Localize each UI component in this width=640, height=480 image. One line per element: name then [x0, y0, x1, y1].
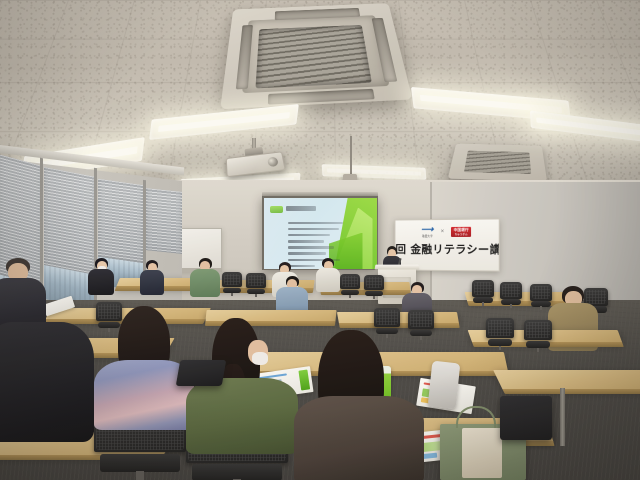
blind-slats [98, 179, 144, 263]
chair-back [486, 318, 514, 338]
light-tube [327, 168, 421, 175]
chair-back [408, 310, 434, 329]
chair-mesh [366, 277, 382, 288]
attendee-body [190, 269, 220, 297]
slide-bullet [288, 252, 326, 255]
chair-seat [192, 464, 282, 480]
chair-post [499, 346, 501, 350]
slide-bullet [288, 240, 324, 243]
logo-separator: × [441, 229, 444, 235]
chair-mesh [488, 320, 512, 336]
chair-mesh [376, 310, 398, 325]
chair-post [231, 293, 233, 296]
chair-post [540, 306, 542, 310]
chair[interactable] [340, 274, 360, 298]
attendee-body [88, 269, 114, 295]
chair[interactable] [524, 320, 552, 352]
chair-back [524, 320, 552, 340]
slide-title-text [286, 206, 316, 211]
ac-grille [255, 25, 371, 89]
lecture-hall-photo: ⟶ 敬愛大学 × 中国銀行 ちゅうぎん 回 金融リテラシー講座 [0, 0, 640, 480]
ceiling-cable [350, 136, 352, 176]
chair-post [510, 304, 512, 308]
partner-logo-icon: 中国銀行 ちゅうぎん [451, 227, 471, 238]
banner-title: 回 金融リテラシー講座 [395, 243, 498, 256]
chair-mesh [224, 274, 240, 285]
chair[interactable] [222, 272, 242, 296]
slide-title-tab [270, 206, 283, 213]
air-conditioner-icon [220, 3, 412, 109]
attendee-left-edge [0, 258, 46, 328]
chair[interactable] [472, 280, 494, 306]
slide-bullet [288, 246, 335, 249]
event-banner: ⟶ 敬愛大学 × 中国銀行 ちゅうぎん 回 金融リテラシー講座 [395, 218, 500, 271]
chair-back [246, 273, 266, 288]
chair-back [374, 308, 400, 327]
chair-back [340, 274, 360, 289]
chair-post [373, 296, 375, 299]
attendee-1 [88, 258, 114, 294]
university-logo-mark: ⟶ [420, 225, 434, 234]
window-blinds-icon[interactable] [146, 188, 182, 254]
chair-post [136, 471, 143, 480]
ac-grille-secondary [464, 151, 531, 174]
chair[interactable] [246, 273, 266, 297]
attendee-2 [140, 260, 164, 294]
face-mask [252, 352, 268, 365]
slide-bullet [288, 228, 340, 231]
chair-mesh [248, 275, 264, 286]
slide-bullet [288, 222, 343, 225]
chair-mesh [342, 276, 358, 287]
chair-back [364, 275, 384, 290]
coat-body [0, 322, 94, 442]
chair[interactable] [500, 282, 522, 308]
university-logo-caption: 敬愛大学 [422, 235, 433, 238]
chair-post [255, 294, 257, 297]
black-backpack[interactable] [176, 360, 227, 386]
tote-contents [462, 428, 502, 478]
desk-row-front-right [493, 370, 640, 390]
air-conditioner-icon-secondary [448, 144, 547, 182]
chair-back [222, 272, 242, 287]
pencil-case[interactable] [428, 361, 461, 410]
chair-back [472, 280, 494, 297]
chair-mesh [474, 282, 492, 295]
chair-seat [100, 454, 181, 472]
attendee-3 [190, 258, 220, 296]
attendee-6 [316, 258, 340, 290]
lectern-top [375, 265, 420, 270]
banner-logo-row: ⟶ 敬愛大学 × 中国銀行 ちゅうぎん [395, 223, 498, 242]
window-blinds-icon[interactable] [98, 179, 144, 263]
chair-mesh [526, 322, 550, 338]
chair-post [349, 295, 351, 298]
chair-post [482, 302, 484, 306]
student-front-right [294, 330, 424, 480]
partner-logo-sub: ちゅうぎん [454, 233, 469, 236]
chair-post [537, 348, 539, 352]
light-tube [420, 95, 562, 113]
student-sweater [294, 396, 424, 480]
attendee-5 [276, 276, 308, 312]
foreground-black-coat [0, 322, 94, 442]
chair-back [500, 282, 522, 299]
university-logo-icon: ⟶ 敬愛大学 [421, 225, 434, 238]
blind-slats [146, 188, 182, 254]
chair-mesh [502, 284, 520, 297]
desk-leg [560, 388, 565, 446]
desk-edge [502, 389, 640, 394]
chair[interactable] [364, 275, 384, 299]
slide-bullet [288, 234, 330, 237]
student-jacket [186, 378, 298, 454]
chair-mesh [410, 312, 432, 327]
attendee-body [140, 270, 164, 295]
chair[interactable] [486, 318, 514, 350]
attendee-body [316, 268, 340, 292]
black-backpack[interactable] [500, 396, 552, 440]
